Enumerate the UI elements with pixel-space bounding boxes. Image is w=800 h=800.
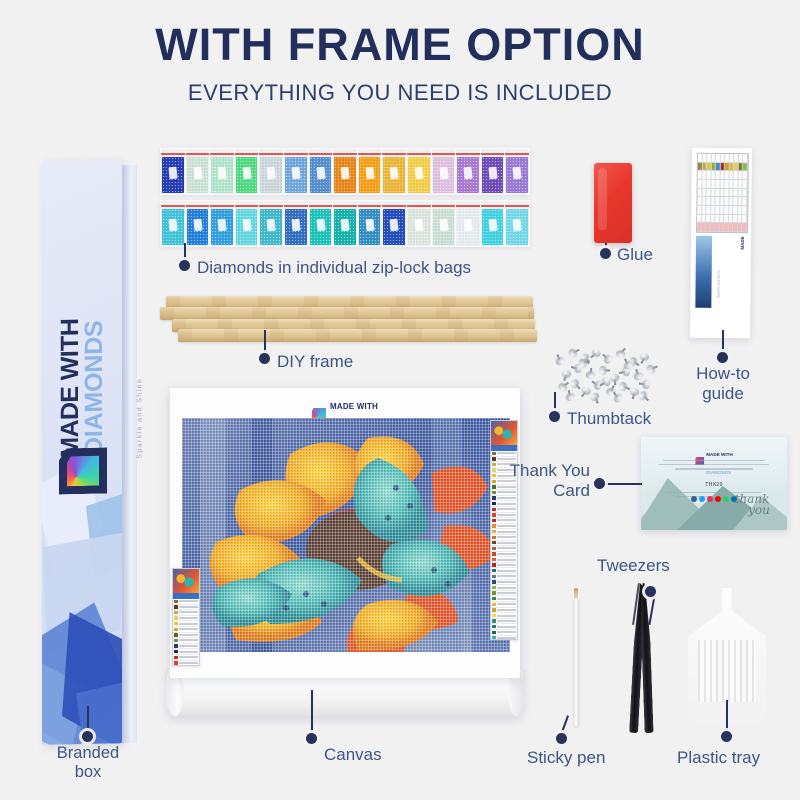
thumbtack: [561, 369, 571, 377]
box-side-tagline: Sparkle and Shine: [137, 343, 144, 493]
canvas-artwork: [182, 418, 510, 652]
bag-diamonds: [506, 157, 528, 193]
legend-code: [497, 553, 516, 555]
bag-diamonds: [334, 157, 356, 193]
callout-dot-bags: [179, 260, 190, 271]
zip-lock-bag: [432, 149, 456, 194]
zip-lock-bag: [284, 149, 308, 194]
branded-box: Sparkle and Shine MADE WITH DIAMONDS: [34, 152, 142, 752]
legend-thumbnail: [173, 569, 199, 593]
zip-lock-bag: [210, 201, 234, 246]
zip-lock-bag: [186, 149, 210, 194]
legend-code: [497, 564, 516, 566]
diy-frame-group: [158, 296, 536, 348]
legend-swatch: [174, 639, 178, 642]
card-discount-code: THX20: [641, 482, 787, 488]
leader-line-tray: [726, 700, 728, 733]
thumbtack: [565, 393, 576, 403]
legend-code: [497, 609, 516, 611]
callout-label-glue: Glue: [617, 245, 653, 265]
legend-code: [179, 623, 198, 625]
zip-lock-bag: [432, 201, 456, 246]
legend-swatch: [492, 625, 496, 628]
zip-lock-bag: [382, 149, 406, 194]
zip-lock-bag: [456, 149, 480, 194]
thumbtack: [586, 372, 595, 379]
bag-diamonds: [408, 157, 430, 193]
zip-lock-bag: [382, 201, 406, 246]
zip-lock-bag: [235, 201, 259, 246]
bag-diamonds: [260, 209, 282, 245]
legend-code: [497, 536, 516, 538]
bag-diamonds: [457, 157, 479, 193]
bag-diamonds: [285, 157, 307, 193]
legend-swatch: [492, 575, 496, 578]
zip-lock-bag: [259, 149, 283, 194]
guide-brand-logo: MADE WITH DIAMONDS: [731, 225, 752, 261]
callout-label-branded-box: Branded box: [46, 744, 130, 782]
callout-dot-thumbtack: [549, 411, 560, 422]
legend-swatch: [492, 614, 496, 617]
bag-diamonds: [162, 209, 184, 245]
leader-line-canvas: [311, 690, 313, 736]
legend-swatch: [492, 502, 496, 505]
legend-code: [179, 617, 198, 619]
legend-code: [179, 662, 198, 664]
callout-label-thumbtack: Thumbtack: [567, 409, 651, 429]
legend-swatch: [492, 519, 496, 522]
thumbtack: [591, 347, 602, 358]
legend-swatch: [492, 508, 496, 511]
callout-dot-branded-box: [82, 731, 93, 742]
callout-dot-canvas: [306, 733, 317, 744]
zip-lock-bag: [505, 201, 529, 246]
tray-ribs: [698, 640, 756, 702]
zip-lock-bag: [456, 201, 480, 246]
legend-swatch: [492, 597, 496, 600]
bag-diamonds: [359, 209, 381, 245]
callout-label-canvas: Canvas: [324, 745, 382, 765]
legend-swatch: [492, 452, 496, 455]
legend-swatch: [174, 605, 178, 608]
callout-dot-thankyou: [594, 478, 605, 489]
bag-row-bottom: [160, 200, 530, 247]
bag-diamonds: [506, 209, 528, 245]
bag-diamonds: [260, 157, 282, 193]
color-legend-right: [490, 420, 518, 640]
legend-code: [497, 525, 516, 527]
legend-swatch: [492, 608, 496, 611]
legend-swatch: [492, 496, 496, 499]
legend-swatch: [174, 600, 178, 603]
legend-code: [497, 514, 516, 516]
zip-lock-bag: [358, 149, 382, 194]
zip-lock-bag: [259, 201, 283, 246]
card-script-thankyou: thank you: [725, 494, 779, 524]
legend-swatch: [492, 491, 496, 494]
sticky-pen: [572, 588, 580, 728]
zip-lock-bag: [505, 149, 529, 194]
legend-swatch: [174, 622, 178, 625]
legend-swatch: [492, 536, 496, 539]
color-legend-left: [172, 568, 200, 666]
bag-diamonds: [211, 209, 233, 245]
legend-code: [497, 575, 516, 577]
legend-swatch: [492, 485, 496, 488]
callout-dot-tray: [721, 731, 732, 742]
legend-swatch: [492, 468, 496, 471]
guide-cover-image: [695, 236, 712, 308]
zip-lock-bag: [407, 201, 431, 246]
legend-swatch: [492, 591, 496, 594]
social-icon[interactable]: [699, 496, 705, 502]
callout-label-pen: Sticky pen: [527, 748, 605, 768]
box-side-panel: Sparkle and Shine: [121, 165, 137, 743]
guide-chart-cell: [743, 206, 748, 215]
legend-code: [497, 508, 516, 510]
thumbtack: [613, 393, 624, 404]
thumbtack: [589, 391, 600, 402]
legend-thumbnail: [491, 421, 517, 445]
legend-code: [497, 519, 516, 521]
legend-swatch: [492, 524, 496, 527]
legend-code: [179, 639, 198, 641]
leader-line-pen: [561, 715, 569, 732]
bag-diamonds: [162, 157, 184, 193]
script-line2: you: [739, 505, 779, 516]
page-title: WITH FRAME OPTION: [0, 22, 800, 67]
bag-diamonds: [236, 209, 258, 245]
legend-swatch: [492, 552, 496, 555]
legend-code: [179, 656, 198, 658]
box-brand-block: MADE WITH DIAMONDS: [42, 251, 122, 503]
legend-code: [497, 452, 516, 454]
thumbtacks-group: [552, 348, 660, 400]
thumbtack: [639, 352, 650, 361]
social-icon[interactable]: [707, 496, 713, 502]
bag-diamonds: [187, 157, 209, 193]
bag-diamonds: [433, 157, 455, 193]
leader-line-guide: [722, 330, 724, 354]
guide-chart-cell: [743, 172, 748, 181]
bag-diamonds: [310, 157, 332, 193]
guide-color-chart: [696, 153, 749, 234]
legend-code: [179, 606, 198, 608]
legend-code: [179, 634, 198, 636]
callout-label-thankyou: Thank You Card: [498, 461, 590, 500]
legend-code: [497, 531, 516, 533]
zip-lock-bag: [284, 201, 308, 246]
bag-diamonds: [408, 209, 430, 245]
bag-diamonds: [334, 209, 356, 245]
legend-swatch: [174, 616, 178, 619]
thumbtack: [557, 382, 568, 393]
legend-code: [497, 587, 516, 589]
legend-swatch: [174, 611, 178, 614]
bag-diamonds: [383, 157, 405, 193]
pen-body: [574, 598, 579, 726]
callout-label-frame: DIY frame: [277, 352, 353, 372]
bag-diamonds: [285, 209, 307, 245]
callout-dot-frame: [259, 353, 270, 364]
canvas-group: MADE WITH DIAMONDS: [170, 388, 520, 678]
zip-lock-bag: [309, 149, 333, 194]
bag-diamonds: [482, 209, 504, 245]
zip-lock-bag: [161, 201, 185, 246]
thumbtack: [643, 380, 650, 389]
bag-row-top: [160, 148, 530, 195]
bag-diamonds: [211, 157, 233, 193]
legend-row: [491, 636, 517, 640]
legend-code: [179, 645, 198, 647]
zip-lock-bag: [309, 201, 333, 246]
callout-dot-glue: [600, 248, 611, 259]
legend-code: [497, 615, 516, 617]
callout-label-guide: How-to guide: [686, 364, 760, 403]
legend-swatch: [492, 563, 496, 566]
guide-chart-cell: [743, 189, 748, 198]
legend-code: [497, 581, 516, 583]
legend-swatch: [492, 586, 496, 589]
guide-chart-cell: [743, 180, 748, 189]
legend-swatch: [174, 661, 178, 664]
legend-code: [497, 631, 516, 633]
zip-lock-bag: [407, 149, 431, 194]
page-subtitle: EVERYTHING YOU NEED IS INCLUDED: [0, 82, 800, 104]
legend-code: [497, 598, 516, 600]
box-front-panel: MADE WITH DIAMONDS: [42, 159, 122, 745]
how-to-guide: MADE WITH DIAMONDS Sparkle and Shine: [690, 148, 752, 339]
guide-chart-cell: [743, 198, 748, 207]
legend-code: [497, 458, 516, 460]
callout-dot-pen: [556, 733, 567, 744]
bag-diamonds: [236, 157, 258, 193]
legend-swatch: [492, 603, 496, 606]
card-message-text: [655, 457, 773, 472]
legend-swatch: [492, 569, 496, 572]
thumbtack: [555, 356, 566, 367]
callout-label-tweezers: Tweezers: [597, 556, 670, 576]
leader-line-branded-box: [87, 706, 89, 734]
callout-dot-guide: [717, 352, 728, 363]
legend-swatch: [492, 631, 496, 634]
thumbtack: [645, 364, 656, 375]
thumbtack: [603, 354, 614, 365]
legend-code: [179, 628, 198, 630]
bag-diamonds: [457, 209, 479, 245]
zip-lock-bag: [358, 201, 382, 246]
legend-swatch: [492, 619, 496, 622]
thumbtack: [618, 381, 627, 391]
guide-chart-cell: [743, 163, 748, 172]
thumbtack: [598, 366, 606, 376]
bag-diamonds: [383, 209, 405, 245]
legend-swatch: [492, 530, 496, 533]
frame-bar: [178, 329, 537, 342]
legend-swatch: [174, 644, 178, 647]
bag-diamonds: [433, 209, 455, 245]
thumbtack: [567, 348, 578, 359]
legend-swatch: [492, 541, 496, 544]
legend-code: [497, 570, 516, 572]
social-icon[interactable]: [715, 496, 721, 502]
callout-label-bags: Diamonds in individual zip-lock bags: [197, 258, 471, 278]
legend-code: [179, 600, 198, 602]
legend-code: [497, 592, 516, 594]
legend-swatch: [492, 558, 496, 561]
legend-code: [497, 620, 516, 622]
infographic-root: WITH FRAME OPTION EVERYTHING YOU NEED IS…: [0, 0, 800, 800]
legend-swatch: [492, 480, 496, 483]
zip-lock-bag: [161, 149, 185, 194]
callout-label-tray: Plastic tray: [677, 748, 760, 768]
leader-line-thankyou: [600, 483, 642, 485]
legend-code: [497, 547, 516, 549]
legend-code: [179, 651, 198, 653]
zip-lock-bag: [333, 149, 357, 194]
social-icon[interactable]: [691, 496, 697, 502]
canvas-logo-line1: MADE WITH: [330, 402, 378, 411]
guide-logo-line1: MADE WITH: [740, 236, 752, 249]
bag-diamonds: [482, 157, 504, 193]
guide-chart-cell: [743, 154, 748, 163]
legend-swatch: [492, 636, 496, 639]
bag-diamonds: [187, 209, 209, 245]
thumbtack: [569, 378, 580, 389]
legend-swatch: [174, 633, 178, 636]
legend-code: [497, 559, 516, 561]
guide-tagline: Sparkle and Shine: [716, 270, 720, 298]
legend-swatch: [492, 580, 496, 583]
guide-chart-cell: [743, 215, 748, 224]
tweezers: [625, 583, 661, 733]
thumbtack: [609, 373, 619, 382]
legend-code: [497, 603, 516, 605]
legend-swatch: [174, 650, 178, 653]
legend-code: [497, 503, 516, 505]
legend-swatch: [492, 457, 496, 460]
diamond-grid-overlay: [182, 418, 510, 652]
bag-diamonds: [359, 157, 381, 193]
zip-lock-bag: [333, 201, 357, 246]
zip-lock-bag: [481, 201, 505, 246]
legend-swatch: [492, 474, 496, 477]
zip-lock-bag: [235, 149, 259, 194]
legend-swatch: [492, 547, 496, 550]
legend-rows: [173, 599, 199, 666]
legend-swatch: [174, 656, 178, 659]
legend-code: [179, 611, 198, 613]
diamond-logo-icon: [59, 447, 107, 494]
zip-lock-bag: [186, 201, 210, 246]
callout-dot-tweezers: [645, 586, 656, 597]
bag-diamonds: [310, 209, 332, 245]
zip-lock-bag: [210, 149, 234, 194]
thumbtack: [633, 371, 644, 381]
legend-swatch: [492, 513, 496, 516]
legend-swatch: [492, 463, 496, 466]
thank-you-card: MADE WITH DIAMONDS THX20 thank you: [641, 437, 787, 530]
legend-code: [497, 542, 516, 544]
zip-lock-bag: [481, 149, 505, 194]
legend-code: [497, 626, 516, 628]
diamond-bags-group: [160, 148, 530, 252]
glue-package: [594, 163, 632, 243]
legend-code: [497, 637, 516, 639]
legend-swatch: [174, 628, 178, 631]
